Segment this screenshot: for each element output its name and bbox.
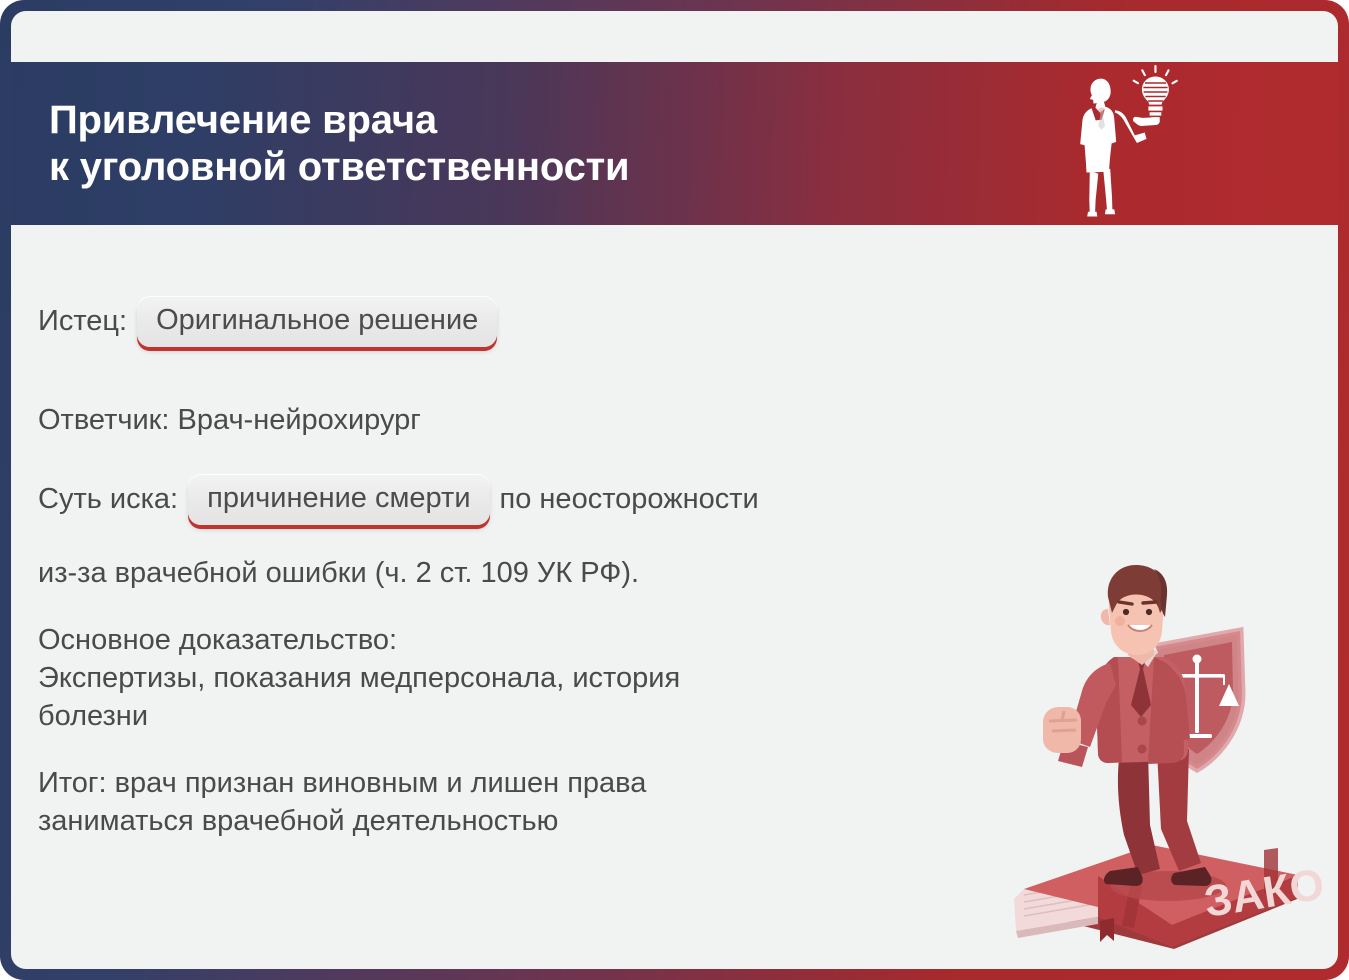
header-band: Привлечение врача к уголовной ответствен… <box>11 62 1338 225</box>
claim-tail: по неосторожности <box>500 480 759 519</box>
case-summary: Истец: Оригинальное решение Ответчик: Вр… <box>38 296 1048 841</box>
plaintiff-chip[interactable]: Оригинальное решение <box>137 296 497 347</box>
defendant-row: Ответчик: Врач-нейрохирург <box>38 401 1048 440</box>
page-title: Привлечение врача к уголовной ответствен… <box>11 97 1069 191</box>
body-area: Истец: Оригинальное решение Ответчик: Вр… <box>11 225 1338 969</box>
lawyer-on-law-book-illustration: ЗАКОН <box>1002 545 1324 969</box>
claim-second-line: из-за врачебной ошибки (ч. 2 ст. 109 УК … <box>38 555 1048 593</box>
outcome-block: Итог: врач признан виновным и лишен прав… <box>38 765 1048 840</box>
plaintiff-row: Истец: Оригинальное решение <box>38 296 1048 347</box>
defendant-label: Ответчик: Врач-нейрохирург <box>38 401 421 440</box>
lawyer-figure <box>1043 565 1211 886</box>
claim-chip[interactable]: причинение смерти <box>188 474 489 525</box>
content-panel: Привлечение врача к уголовной ответствен… <box>11 11 1338 969</box>
claim-label: Суть иска: <box>38 480 178 519</box>
claim-row: Суть иска: причинение смерти по неосторо… <box>38 474 1048 525</box>
evidence-block: Основное доказательство: Экспертизы, пок… <box>38 622 1048 735</box>
man-with-lightbulb-icon <box>1069 62 1189 225</box>
law-book: ЗАКОН <box>1014 845 1324 949</box>
infographic-card: Привлечение врача к уголовной ответствен… <box>0 0 1349 980</box>
plaintiff-label: Истец: <box>38 302 127 341</box>
